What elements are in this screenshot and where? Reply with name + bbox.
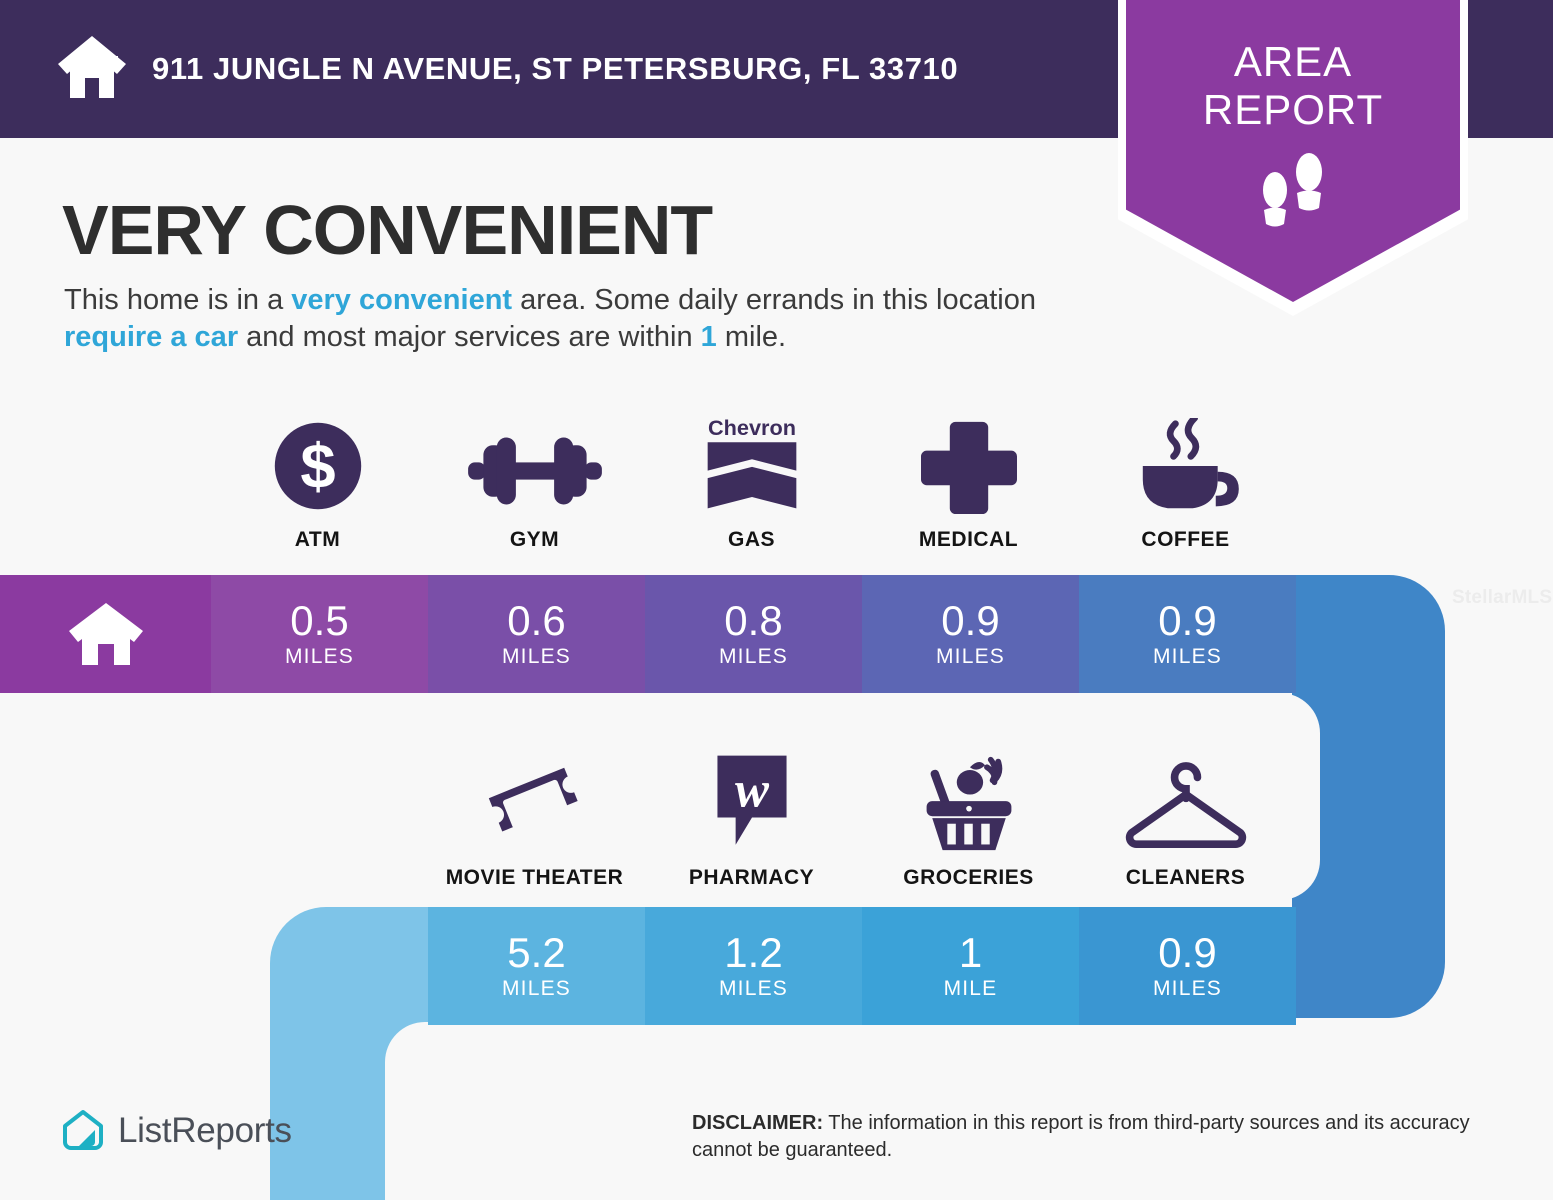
grocery-basket-icon	[860, 748, 1077, 852]
brand-name: ListReports	[118, 1111, 292, 1151]
footprints-icon	[1255, 152, 1331, 238]
distance-unit: MILES	[1153, 645, 1222, 669]
summary-description: This home is in a very convenient area. …	[64, 282, 1094, 356]
distance-value: 1	[959, 931, 982, 975]
amenity-gym: GYM	[426, 410, 643, 552]
amenity-groceries: GROCERIES	[860, 748, 1077, 890]
amenity-label: PHARMACY	[643, 866, 860, 890]
distance-unit: MILES	[285, 645, 354, 669]
distance-value: 0.9	[1158, 931, 1216, 975]
distance-value: 0.8	[724, 599, 782, 643]
distance-value: 0.6	[507, 599, 565, 643]
distance-segment-medical: 0.9 MILES	[862, 575, 1079, 693]
distance-segment-pharmacy: 1.2 MILES	[645, 907, 862, 1025]
distance-segment-gym: 0.6 MILES	[428, 575, 645, 693]
amenity-movie-theater: MOVIE THEATER	[426, 748, 643, 890]
clothes-hanger-icon	[1077, 748, 1294, 852]
movie-ticket-icon	[426, 748, 643, 852]
desc-highlight-miles: 1	[701, 321, 717, 353]
walgreens-w-icon: w	[643, 748, 860, 852]
svg-text:w: w	[735, 763, 770, 819]
house-icon	[56, 34, 128, 100]
amenity-atm: $ ATM	[209, 410, 426, 552]
distance-unit: MILE	[944, 977, 998, 1001]
amenity-label: GYM	[426, 528, 643, 552]
area-report-badge-text: AREA REPORT	[1126, 38, 1460, 134]
distance-segment-coffee: 0.9 MILES	[1079, 575, 1296, 693]
amenity-icon-row-1: $ ATM GYM Chevr	[0, 410, 1553, 570]
amenity-coffee: COFFEE	[1077, 410, 1294, 552]
distance-unit: MILES	[936, 645, 1005, 669]
amenity-label: COFFEE	[1077, 528, 1294, 552]
desc-highlight-convenient: very convenient	[291, 284, 512, 316]
amenity-icon-row-2: MOVIE THEATER w PHARMACY	[0, 748, 1553, 908]
amenity-cleaners: CLEANERS	[1077, 748, 1294, 890]
distance-segment-cleaners: 0.9 MILES	[1079, 907, 1296, 1025]
desc-part-1: This home is in a	[64, 284, 291, 316]
distance-value: 0.9	[941, 599, 999, 643]
distance-unit: MILES	[502, 977, 571, 1001]
amenity-gas: Chevron GAS	[643, 410, 860, 552]
listreports-brand: ListReports	[60, 1108, 292, 1154]
distance-segment-movie-theater: 5.2 MILES	[428, 907, 645, 1025]
property-address: 911 JUNGLE N AVENUE, ST PETERSBURG, FL 3…	[152, 51, 958, 87]
disclaimer-label: DISCLAIMER:	[692, 1112, 823, 1134]
desc-part-2: area. Some daily errands in this locatio…	[512, 284, 1036, 316]
distance-segment-gas: 0.8 MILES	[645, 575, 862, 693]
badge-line-1: AREA	[1126, 38, 1460, 86]
distance-value: 0.5	[290, 599, 348, 643]
medical-cross-icon	[860, 410, 1077, 514]
distance-segment-groceries: 1 MILE	[862, 907, 1079, 1025]
amenity-label: CLEANERS	[1077, 866, 1294, 890]
snake-left-notch	[385, 1022, 555, 1200]
listreports-logo-icon	[60, 1108, 106, 1154]
page-title: VERY CONVENIENT	[62, 190, 712, 270]
desc-part-3: and most major services are within	[238, 321, 701, 353]
gas-brand-text: Chevron	[708, 415, 796, 440]
house-icon	[67, 601, 145, 667]
amenity-label: ATM	[209, 528, 426, 552]
desc-highlight-car: require a car	[64, 321, 238, 353]
distance-value: 1.2	[724, 931, 782, 975]
distance-unit: MILES	[1153, 977, 1222, 1001]
desc-part-4: mile.	[717, 321, 786, 353]
badge-line-2: REPORT	[1126, 86, 1460, 134]
mls-watermark: StellarMLS	[1452, 587, 1552, 609]
amenity-label: GAS	[643, 528, 860, 552]
disclaimer: DISCLAIMER: The information in this repo…	[692, 1110, 1502, 1164]
dollar-circle-icon: $	[209, 410, 426, 514]
amenity-label: MOVIE THEATER	[426, 866, 643, 890]
distance-unit: MILES	[719, 977, 788, 1001]
dumbbell-icon	[426, 410, 643, 514]
area-report-infographic: 911 JUNGLE N AVENUE, ST PETERSBURG, FL 3…	[0, 0, 1553, 1200]
distance-unit: MILES	[502, 645, 571, 669]
chevron-gas-icon: Chevron	[643, 410, 860, 514]
amenity-label: MEDICAL	[860, 528, 1077, 552]
distance-value: 0.9	[1158, 599, 1216, 643]
distance-segment-atm: 0.5 MILES	[211, 575, 428, 693]
amenity-pharmacy: w PHARMACY	[643, 748, 860, 890]
distance-value: 5.2	[507, 931, 565, 975]
amenity-medical: MEDICAL	[860, 410, 1077, 552]
amenity-label: GROCERIES	[860, 866, 1077, 890]
home-marker-segment	[0, 575, 211, 693]
coffee-cup-icon	[1077, 410, 1294, 514]
distance-unit: MILES	[719, 645, 788, 669]
svg-text:$: $	[300, 432, 335, 502]
